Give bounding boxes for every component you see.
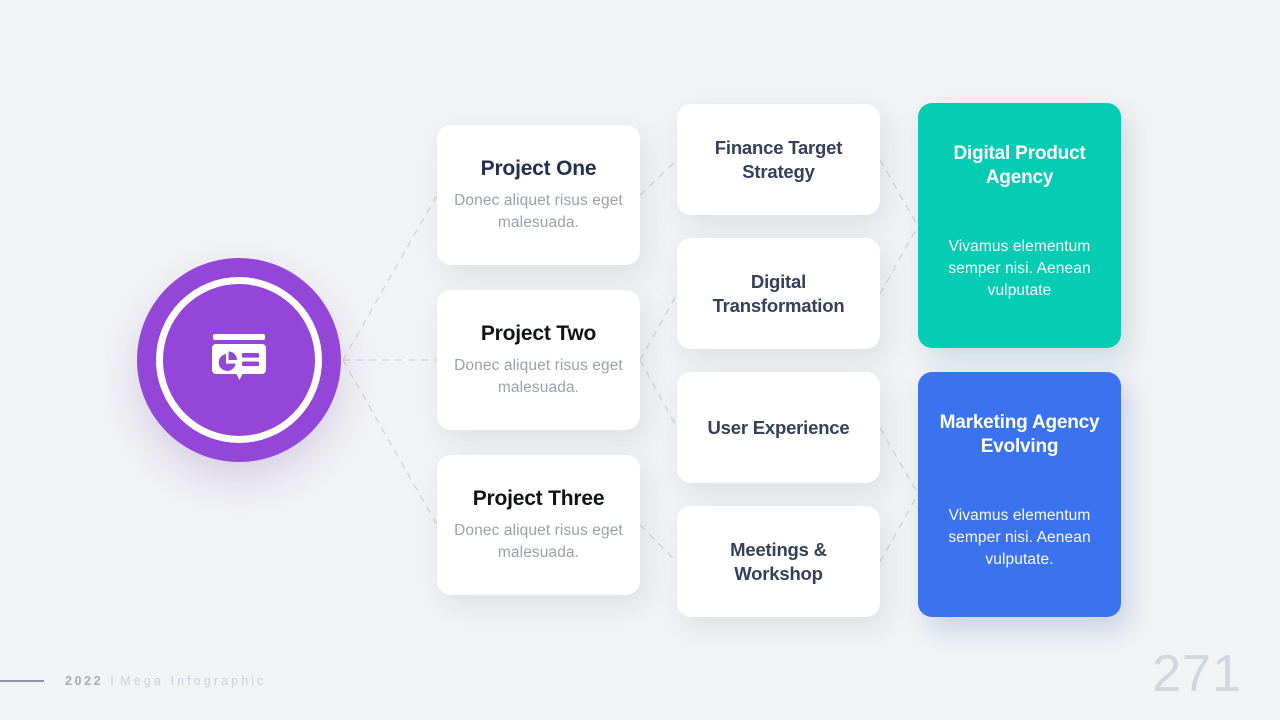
connector-topic-two-to-result-one [880,226,918,294]
topic-card-user-experience[interactable]: User Experience [677,372,880,483]
connector-topic-four-to-result-two [880,494,918,562]
result-card-two-description: Vivamus elementum semper nisi. Aenean vu… [934,505,1105,571]
topic-card-one-title: Finance Target Strategy [689,136,868,183]
topic-card-meetings-workshop[interactable]: Meetings & Workshop [677,506,880,617]
connector-topic-three-to-result-two [880,428,918,494]
project-card-one-description: Donec aliquet risus eget malesuada. [451,190,626,234]
connector-hub-to-project-one [343,195,437,360]
footer-year: 2022 [65,674,103,688]
connector-project-one-to-topic-one [640,160,677,195]
project-card-one-title: Project One [481,156,597,182]
topic-card-digital-transformation[interactable]: Digital Transformation [677,238,880,349]
connector-project-three-to-topic-four [640,525,677,562]
topic-card-four-title: Meetings & Workshop [689,538,868,585]
project-card-two-description: Donec aliquet risus eget malesuada. [451,355,626,399]
footer-rule [0,680,44,682]
topic-card-finance-target-strategy[interactable]: Finance Target Strategy [677,104,880,215]
project-card-two-title: Project Two [481,321,596,347]
central-hub[interactable] [137,258,341,462]
topic-card-two-title: Digital Transformation [689,270,868,317]
project-card-one[interactable]: Project One Donec aliquet risus eget mal… [437,125,640,265]
connector-topic-one-to-result-one [880,160,918,226]
result-card-marketing-agency-evolving[interactable]: Marketing Agency Evolving Vivamus elemen… [918,372,1121,617]
infographic-slide: Project One Donec aliquet risus eget mal… [0,0,1280,720]
connector-project-two-to-topic-two [640,294,677,360]
presentation-chart-icon [211,334,267,386]
page-number: 271 [1152,648,1242,700]
result-card-digital-product-agency[interactable]: Digital Product Agency Vivamus elementum… [918,103,1121,348]
connector-project-two-to-topic-three [640,360,677,428]
project-card-three[interactable]: Project Three Donec aliquet risus eget m… [437,455,640,595]
project-card-two[interactable]: Project Two Donec aliquet risus eget mal… [437,290,640,430]
connector-hub-to-project-three [343,360,437,525]
result-card-one-description: Vivamus elementum semper nisi. Aenean vu… [934,236,1105,302]
footer-label: Mega Infographic [120,674,266,688]
footer: 2022 I Mega Infographic [0,672,267,690]
result-card-one-title: Digital Product Agency [934,142,1105,190]
topic-card-three-title: User Experience [707,416,849,440]
project-card-three-title: Project Three [473,486,605,512]
result-card-two-title: Marketing Agency Evolving [934,411,1105,459]
footer-separator: I [110,674,116,688]
project-card-three-description: Donec aliquet risus eget malesuada. [451,520,626,564]
